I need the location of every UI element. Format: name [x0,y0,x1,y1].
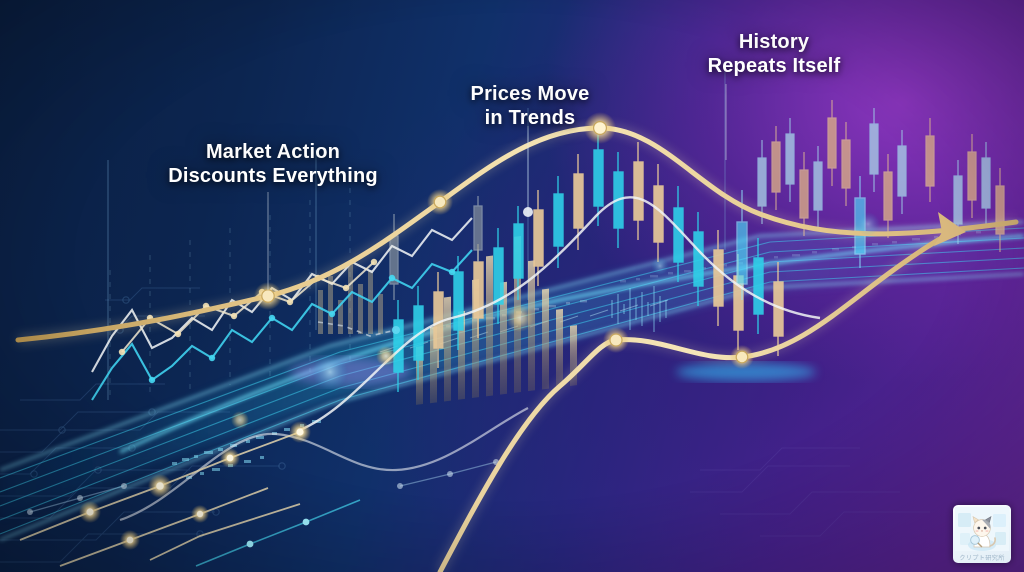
label-history-repeats-itself: History Repeats Itself [702,30,846,79]
cat-researcher-icon [955,507,1009,551]
label-market-action: Market Action Discounts Everything [168,140,378,189]
logo-badge[interactable]: クリプト研究所 [953,505,1011,563]
label-prices-move-in-trends: Prices Move in Trends [466,82,594,131]
logo-caption: クリプト研究所 [953,553,1011,562]
dow-theory-banner: Market Action Discounts Everything Price… [0,0,1024,572]
